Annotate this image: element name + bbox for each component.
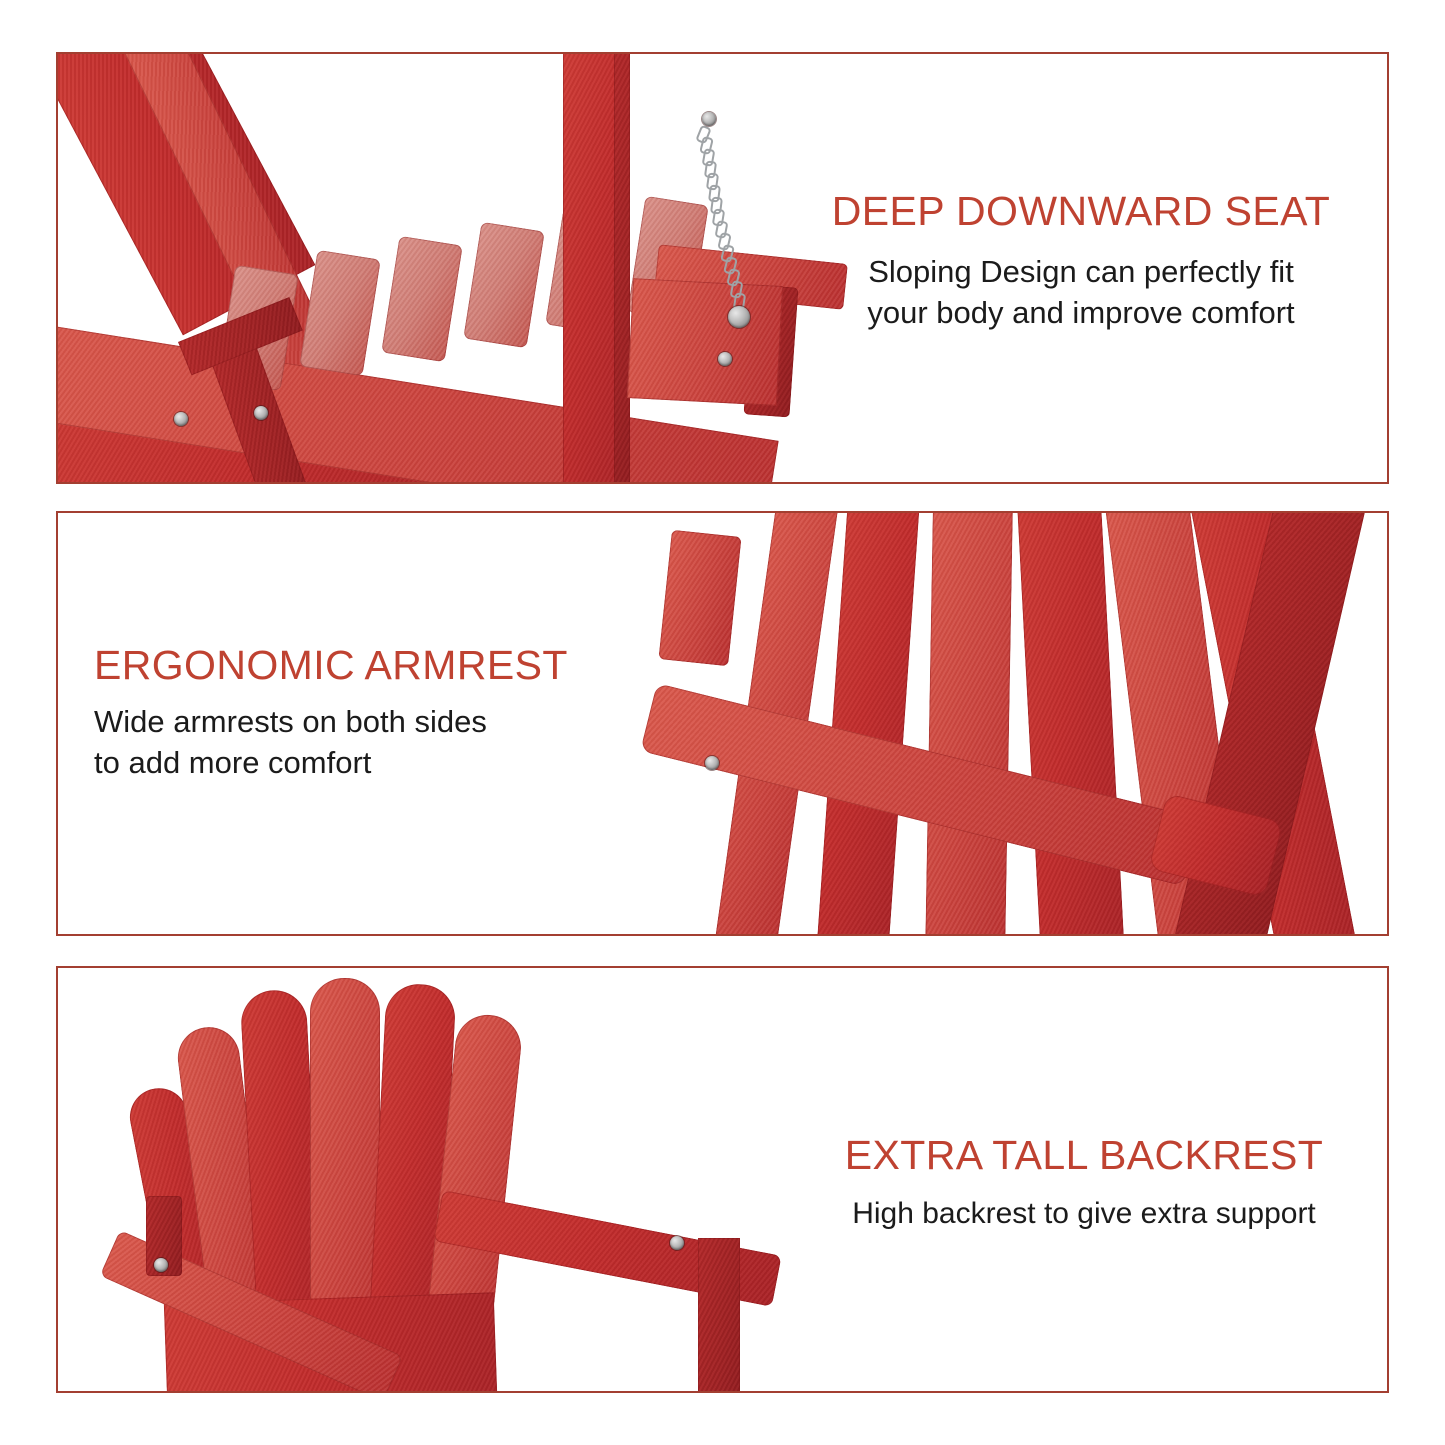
chain-clip xyxy=(728,306,750,328)
post-screw xyxy=(718,352,732,366)
chair-leg-post-edge xyxy=(614,54,630,482)
armrest xyxy=(640,683,1200,886)
backrest-slat xyxy=(925,513,1014,934)
frame-screw xyxy=(174,412,188,426)
armrest-screw xyxy=(154,1258,168,1272)
feature-text-block: EXTRA TALL BACKREST High backrest to giv… xyxy=(799,1133,1369,1234)
feature-text-block: ERGONOMIC ARMREST Wide armrests on both … xyxy=(94,643,684,784)
panel-body-line: to add more comfort xyxy=(94,743,684,784)
frame-screw xyxy=(254,406,268,420)
panel-body-line: your body and improve comfort xyxy=(801,293,1361,334)
seat-slat xyxy=(463,222,545,349)
feature-panel-extra-tall-backrest: EXTRA TALL BACKREST High backrest to giv… xyxy=(56,966,1389,1393)
panel-heading: ERGONOMIC ARMREST xyxy=(94,643,684,688)
infographic-sheet: DEEP DOWNWARD SEAT Sloping Design can pe… xyxy=(0,0,1445,1445)
backrest-slat xyxy=(815,513,920,934)
chair-seat-side-panel xyxy=(627,278,783,406)
product-photo-armrest-detail xyxy=(627,513,1387,934)
armrest-screw xyxy=(705,756,719,770)
feature-text-block: DEEP DOWNWARD SEAT Sloping Design can pe… xyxy=(801,189,1361,334)
panel-body-line: Sloping Design can perfectly fit xyxy=(801,252,1361,293)
chair-front-leg-right xyxy=(698,1238,740,1391)
panel-body-line: Wide armrests on both sides xyxy=(94,702,684,743)
product-photo-seat-detail xyxy=(58,54,848,482)
seat-slat xyxy=(299,250,381,377)
panel-body: Wide armrests on both sides to add more … xyxy=(94,702,684,784)
panel-body-line: High backrest to give extra support xyxy=(799,1194,1369,1234)
backrest-slat xyxy=(1016,513,1126,934)
panel-heading: DEEP DOWNWARD SEAT xyxy=(801,189,1361,234)
panel-body: Sloping Design can perfectly fit your bo… xyxy=(801,252,1361,334)
armrest-support-post xyxy=(658,530,741,667)
panel-body: High backrest to give extra support xyxy=(799,1194,1369,1234)
seat-slat xyxy=(381,236,463,363)
armrest-screw xyxy=(670,1236,684,1250)
product-photo-full-chair xyxy=(58,968,828,1391)
feature-panel-deep-downward-seat: DEEP DOWNWARD SEAT Sloping Design can pe… xyxy=(56,52,1389,484)
chain-anchor-screw xyxy=(702,112,716,126)
panel-heading: EXTRA TALL BACKREST xyxy=(799,1133,1369,1178)
feature-panel-ergonomic-armrest: ERGONOMIC ARMREST Wide armrests on both … xyxy=(56,511,1389,936)
